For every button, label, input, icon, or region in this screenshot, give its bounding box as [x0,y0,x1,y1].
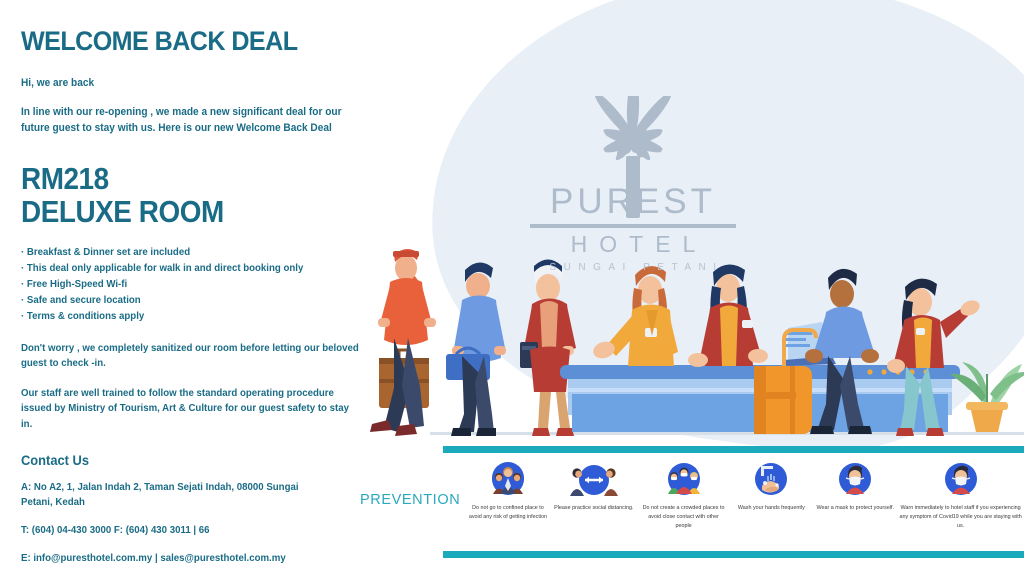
promo-text-column: WELCOME BACK DEAL Hi, we are back In lin… [21,0,421,568]
list-item: · This deal only applicable for walk in … [21,261,389,277]
prevention-icons-row: Do not go to confined place to avoid any… [466,460,1024,548]
intro-text: In line with our re-opening , we made a … [21,105,361,137]
prevention-heading: PREVENTION [360,492,460,508]
wear-mask-icon [835,460,875,500]
guest-blue-figure [446,262,506,436]
list-item: · Breakfast & Dinner set are included [21,245,389,261]
hotel-logo: PUREST HOTEL SUNGAI PETANI [508,96,758,264]
crowd-confined-place-icon [488,460,528,500]
prevention-caption: Do not go to confined place to avoid any… [468,504,548,522]
prevention-caption: Do not create a crowded places to avoid … [640,504,728,530]
staff-orange-figure [591,266,678,366]
logo-text-block: PUREST HOTEL SUNGAI PETANI [508,184,758,273]
price-value: RM218 [21,163,381,195]
prevention-caption: Wash your hands frequently [738,504,805,513]
prevention-item: Do not create a crowded places to avoid … [638,460,730,530]
sanitization-paragraph: Don't worry , we completely sanitized ou… [21,341,360,371]
prevention-item: Warn immediately to hotel staff if you e… [897,460,1024,530]
list-item: · Free High-Speed Wi-fi [21,277,389,293]
prevention-item: Do not go to confined place to avoid any… [466,460,550,522]
list-item: · Safe and secure location [21,293,389,309]
hotel-lobby-illustration [350,246,1024,451]
contact-address: A: No A2, 1, Jalan Indah 2, Taman Sejati… [21,480,325,510]
warn-hotel-staff-icon [941,460,981,500]
deal-features-list: · Breakfast & Dinner set are included · … [21,245,389,325]
contact-phone: T: (604) 04-430 3000 F: (604) 430 3011 |… [21,523,325,538]
social-distancing-icon [566,460,622,500]
contact-heading: Contact Us [21,452,389,468]
list-item: · Terms & conditions apply [21,309,389,325]
prevention-divider-bottom [443,551,1024,558]
staff-training-paragraph: Our staff are well trained to follow the… [21,386,360,432]
prevention-item: Wash your hands frequently [729,460,813,513]
room-type-label: DELUXE ROOM [21,194,381,231]
greeting-text: Hi, we are back [21,77,389,89]
logo-location: SUNGAI PETANI [508,262,758,273]
logo-type: HOTEL [508,231,758,258]
prevention-caption: Warn immediately to hotel staff if you e… [899,504,1022,530]
prevention-caption: Wear a mask to protect yourself. [817,504,895,513]
guest-red-figure [520,260,576,437]
wash-hands-icon [751,460,791,500]
page-title: WELCOME BACK DEAL [21,26,393,57]
prevention-item: Wear a mask to protect yourself. [813,460,897,513]
potted-plant [950,362,1024,432]
prevention-item: Please practice social distancing. [550,460,638,513]
logo-name: PUREST [508,184,758,219]
contact-email[interactable]: E: info@puresthotel.com.my | sales@pures… [21,551,325,566]
avoid-crowded-place-icon [664,460,704,500]
prevention-caption: Please practice social distancing. [554,504,633,513]
logo-divider [530,224,736,228]
prevention-divider-top [443,446,1024,453]
staff-maroon-figure [688,264,768,367]
poster-canvas: WELCOME BACK DEAL Hi, we are back In lin… [0,0,1024,568]
